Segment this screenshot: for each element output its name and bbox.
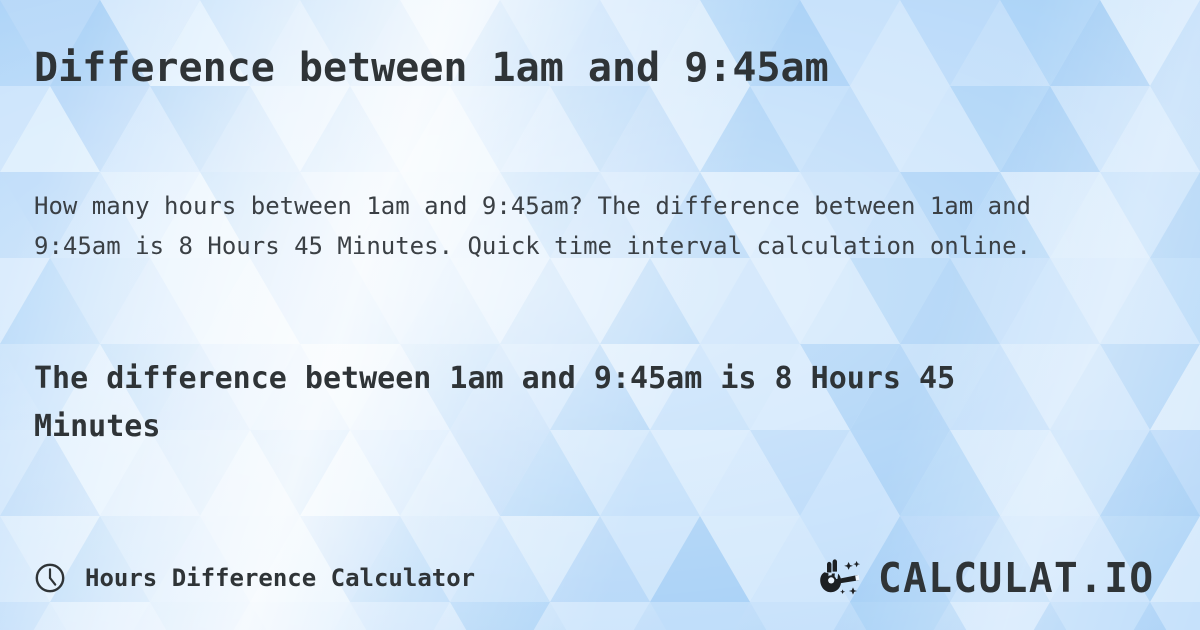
page-description: How many hours between 1am and 9:45am? T… [34, 186, 1114, 266]
card-footer: Hours Difference Calculator [0, 554, 1200, 602]
magic-wand-hand-icon [818, 556, 874, 600]
brand-wordmark: CALCULAT.IO [878, 558, 1155, 599]
footer-tool: Hours Difference Calculator [34, 562, 475, 594]
og-image-card: Difference between 1am and 9:45am How ma… [0, 0, 1200, 630]
brand-logo: CALCULAT.IO [818, 556, 1166, 600]
footer-tool-label: Hours Difference Calculator [85, 564, 475, 592]
result-heading: The difference between 1am and 9:45am is… [34, 355, 1094, 451]
page-title: Difference between 1am and 9:45am [34, 44, 1174, 92]
clock-icon [34, 562, 66, 594]
card-content: Difference between 1am and 9:45am How ma… [0, 0, 1200, 630]
